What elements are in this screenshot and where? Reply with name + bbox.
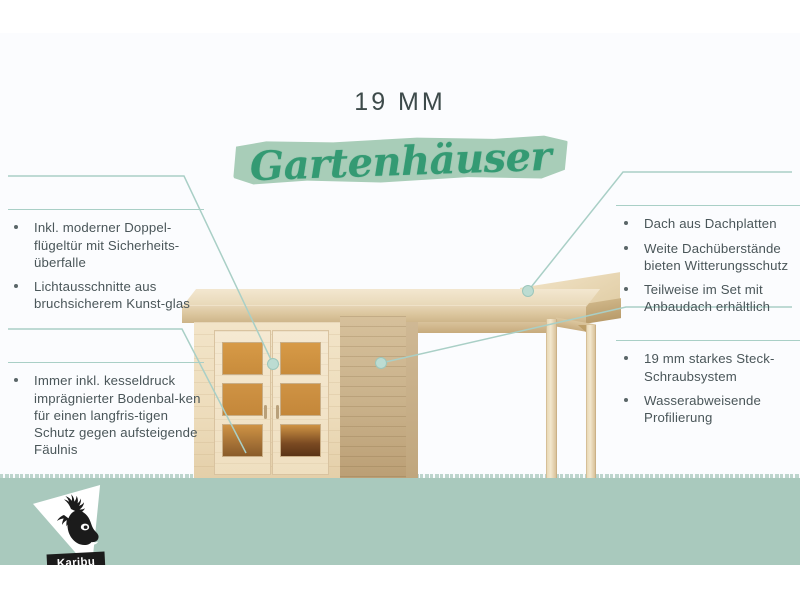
infographic-stage: 19 MM Gartenhäuser bbox=[0, 0, 800, 600]
callout-rule bbox=[8, 209, 204, 210]
callout-rule bbox=[8, 362, 204, 363]
door-pane bbox=[222, 342, 263, 375]
callout-item: Wasserabweisende Profilierung bbox=[616, 392, 800, 426]
callout-item: Lichtausschnitte aus bruchsicherem Kunst… bbox=[8, 278, 204, 312]
canopy-post-front bbox=[546, 319, 557, 478]
door-pane bbox=[222, 383, 263, 416]
callout-item: Weite Dachüberstände bieten Witterungssc… bbox=[616, 240, 800, 274]
door-pane bbox=[280, 342, 321, 375]
door-pane bbox=[222, 424, 263, 457]
door-right-leaf bbox=[272, 330, 329, 475]
door-pane bbox=[280, 383, 321, 416]
infographic-panel: 19 MM Gartenhäuser bbox=[0, 33, 800, 565]
ground-plane bbox=[0, 478, 800, 565]
callout-item: Immer inkl. kesseldruck imprägnierter Bo… bbox=[8, 372, 204, 458]
door-handle bbox=[276, 405, 279, 419]
callout-list: Immer inkl. kesseldruck imprägnierter Bo… bbox=[8, 372, 204, 458]
canopy-underside-beam bbox=[406, 322, 548, 333]
callout-list: 19 mm starkes Steck-Schraubsystem Wasser… bbox=[616, 350, 800, 426]
callout-list: Inkl. moderner Doppel-flügeltür mit Sich… bbox=[8, 219, 204, 312]
callout-item: Teilweise im Set mit Anbaudach erhältlic… bbox=[616, 281, 800, 315]
callout-top-left: Inkl. moderner Doppel-flügeltür mit Sich… bbox=[8, 209, 204, 319]
shed-side-wall bbox=[340, 316, 406, 478]
headline-group: Gartenhäuser bbox=[233, 133, 568, 189]
callout-bottom-right: 19 mm starkes Steck-Schraubsystem Wasser… bbox=[616, 340, 800, 433]
brand-logo: Karibu bbox=[33, 485, 119, 565]
callout-rule bbox=[616, 205, 800, 206]
callout-item: Dach aus Dachplatten bbox=[616, 215, 800, 232]
kicker-thickness: 19 MM bbox=[0, 88, 800, 117]
page-title: Gartenhäuser bbox=[232, 127, 569, 195]
callout-bottom-left: Immer inkl. kesseldruck imprägnierter Bo… bbox=[8, 362, 204, 465]
door-pane bbox=[280, 424, 321, 457]
logo-wordmark: Karibu bbox=[47, 551, 106, 565]
callout-top-right: Dach aus Dachplatten Weite Dachüberständ… bbox=[616, 205, 800, 322]
callout-list: Dach aus Dachplatten Weite Dachüberständ… bbox=[616, 215, 800, 315]
callout-rule bbox=[616, 340, 800, 341]
callout-item: 19 mm starkes Steck-Schraubsystem bbox=[616, 350, 800, 384]
canopy-post-rear bbox=[586, 325, 596, 478]
shed-side-wall-return bbox=[406, 322, 418, 478]
callout-item: Inkl. moderner Doppel-flügeltür mit Sich… bbox=[8, 219, 204, 271]
door-handle bbox=[264, 405, 267, 419]
door-left-leaf bbox=[214, 330, 271, 475]
